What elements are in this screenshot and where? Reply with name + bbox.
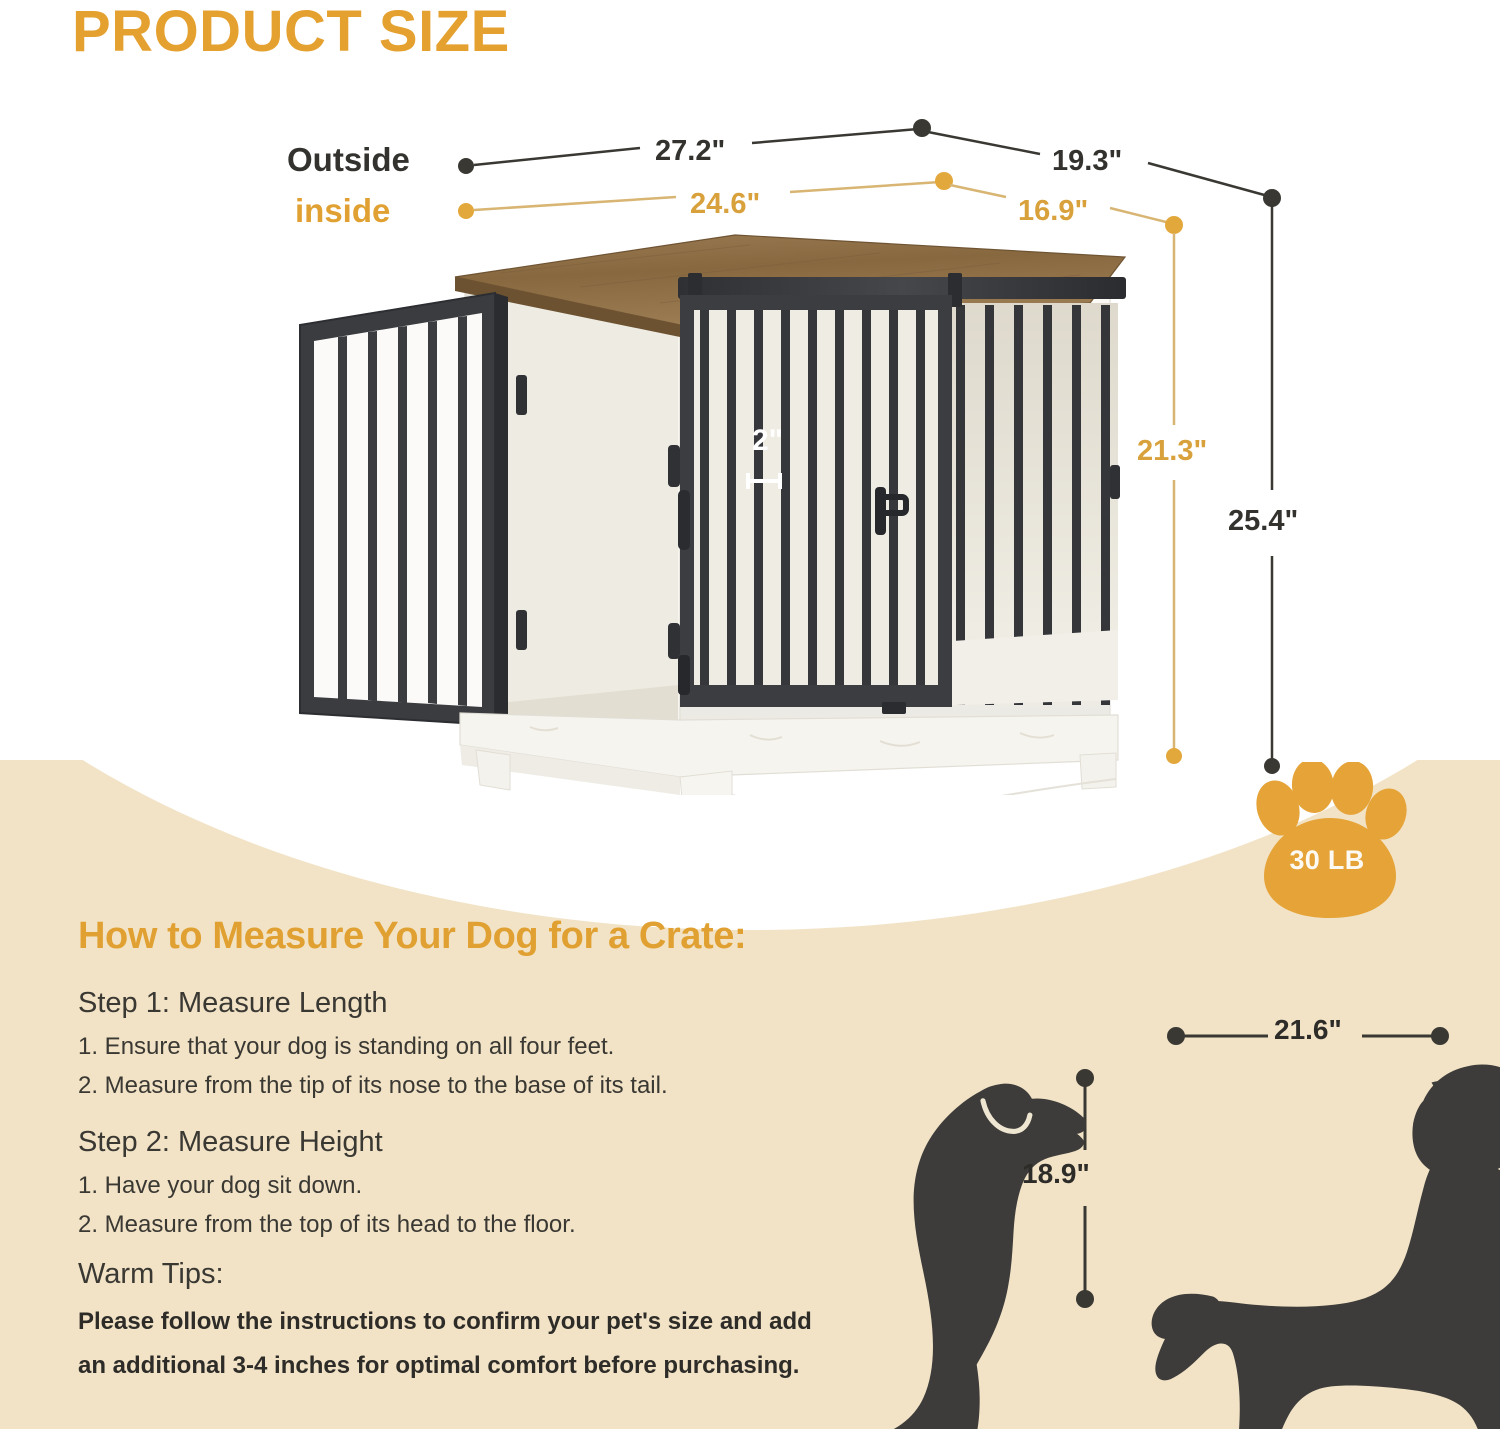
- center-door-bottom-rail: [680, 685, 952, 707]
- warm-tips-line-1: Please follow the instructions to confir…: [78, 1308, 812, 1336]
- dim-dot-outside-right: [1263, 189, 1281, 207]
- door-lower-latch: [678, 655, 690, 695]
- weight-badge: [1236, 762, 1416, 922]
- open-door-edge: [495, 293, 508, 725]
- dim-dot-outside-left: [458, 158, 474, 174]
- guide-title: How to Measure Your Dog for a Crate:: [78, 915, 746, 958]
- center-door-handle: [678, 490, 690, 550]
- crate-svg: 2": [280, 215, 1140, 795]
- weight-badge-value: 30 LB: [1262, 845, 1392, 876]
- right-side-catch: [1110, 465, 1120, 499]
- crate-foot-left: [476, 750, 510, 790]
- dimension-outside-height: 25.4": [1228, 505, 1298, 538]
- step2-line-1: 1. Have your dog sit down.: [78, 1172, 362, 1200]
- base-scallop: [732, 779, 1116, 795]
- dog-sitting-height-label: 18.9": [1022, 1158, 1090, 1190]
- dimension-inside-depth: 16.9": [1018, 195, 1088, 228]
- step1-line-2: 2. Measure from the tip of its nose to t…: [78, 1072, 668, 1100]
- legend-outside-label: Outside: [287, 141, 410, 179]
- step1-heading: Step 1: Measure Length: [78, 987, 388, 1020]
- dimension-outside-width: 27.2": [655, 135, 725, 168]
- bar-spacing-label: 2": [752, 424, 783, 457]
- dimension-inside-height: 21.3": [1137, 435, 1207, 468]
- door-floor-catch: [882, 702, 906, 714]
- step1-line-1: 1. Ensure that your dog is standing on a…: [78, 1033, 614, 1061]
- dimension-outside-depth: 19.3": [1052, 145, 1122, 178]
- paw-print-icon: [1236, 762, 1416, 922]
- dim-dot-inside-right: [1165, 216, 1183, 234]
- crate-interior-back-wall: [480, 285, 678, 705]
- dim-dot-inside-apex: [935, 172, 953, 190]
- dog-crate-illustration: 2": [280, 215, 1140, 795]
- hinge-bottom-icon: [516, 610, 527, 650]
- warm-tips-line-2: an additional 3-4 inches for optimal com…: [78, 1352, 799, 1380]
- hinge-top-icon: [516, 375, 527, 415]
- step2-heading: Step 2: Measure Height: [78, 1126, 383, 1159]
- open-left-door: [300, 293, 508, 725]
- page-title: PRODUCT SIZE: [72, 0, 510, 65]
- cabinet-side-catch-upper: [668, 445, 680, 487]
- step2-line-2: 2. Measure from the top of its head to t…: [78, 1211, 576, 1239]
- infographic-page: PRODUCT SIZE Outside inside: [0, 0, 1500, 1429]
- dog-standing-length-label: 21.6": [1274, 1014, 1342, 1046]
- warm-tips-heading: Warm Tips:: [78, 1258, 224, 1291]
- bar-spacing-marker: 2": [748, 424, 783, 489]
- cabinet-side-catch-lower: [668, 623, 680, 659]
- dimension-inside-width: 24.6": [690, 188, 760, 221]
- dim-dot-outside-apex: [913, 119, 931, 137]
